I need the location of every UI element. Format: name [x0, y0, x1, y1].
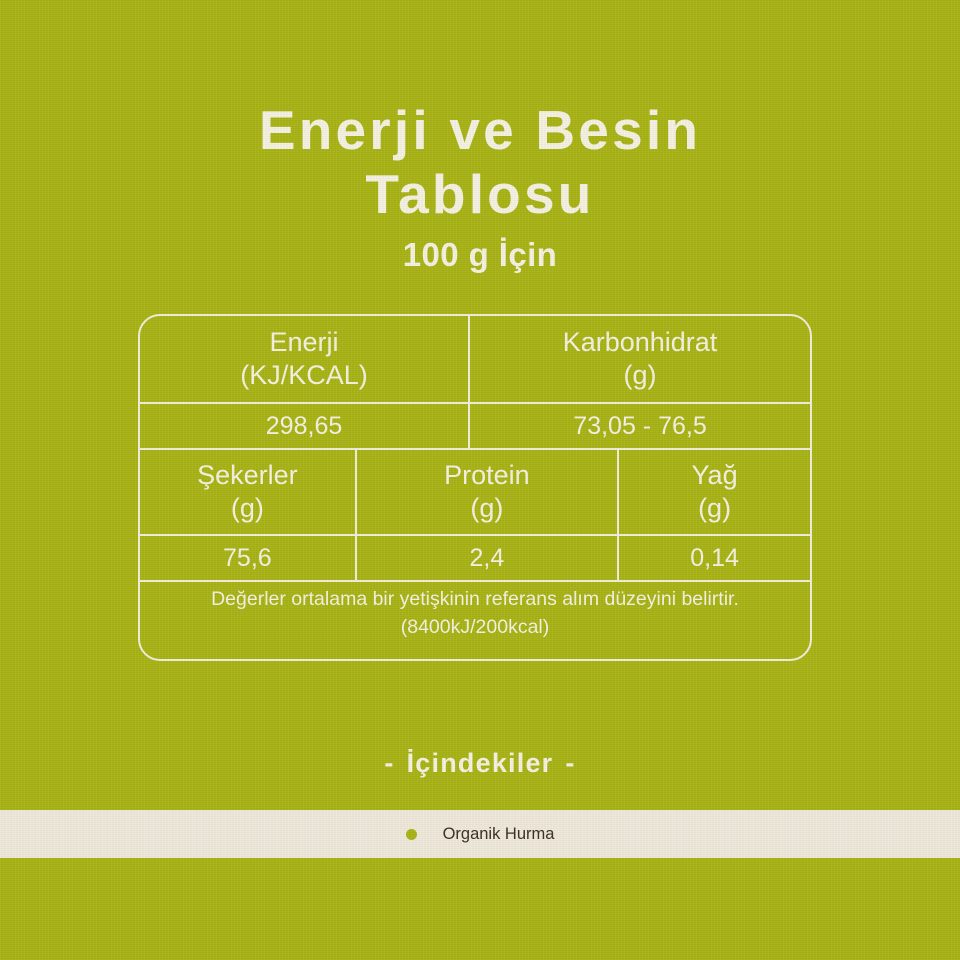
- ingredients-heading-label: İçindekiler: [407, 748, 554, 778]
- table-row: Şekerler (g) Protein (g) Yağ (g): [140, 448, 810, 534]
- table-value-cell-sekerler: 75,6: [140, 536, 355, 580]
- header-name: Enerji: [270, 326, 339, 359]
- table-value-cell-karbonhidrat: 73,05 - 76,5: [468, 404, 810, 448]
- title-block: Enerji ve Besin Tablosu 100 g İçin: [0, 98, 960, 274]
- page-title-line-1: Enerji ve Besin: [0, 98, 960, 162]
- bullet-dot-icon: [406, 829, 417, 840]
- table-footnote: Değerler ortalama bir yetişkinin referan…: [140, 580, 810, 645]
- header-name: Karbonhidrat: [563, 326, 718, 359]
- header-name: Protein: [444, 459, 530, 492]
- ingredient-label: Organik Hurma: [443, 825, 555, 844]
- table-header-cell-yag: Yağ (g): [617, 450, 810, 534]
- header-unit: (KJ/KCAL): [240, 359, 368, 392]
- footnote-line-1: Değerler ortalama bir yetişkinin referan…: [211, 586, 739, 614]
- header-name: Yağ: [692, 459, 738, 492]
- table-value-cell-yag: 0,14: [617, 536, 810, 580]
- ingredients-heading: -İçindekiler-: [0, 748, 960, 779]
- table-header-cell-sekerler: Şekerler (g): [140, 450, 355, 534]
- table-header-cell-karbonhidrat: Karbonhidrat (g): [468, 316, 810, 402]
- table-header-cell-enerji: Enerji (KJ/KCAL): [140, 316, 468, 402]
- page-subtitle: 100 g İçin: [0, 236, 960, 274]
- table-row: Enerji (KJ/KCAL) Karbonhidrat (g): [140, 316, 810, 402]
- nutrition-label-page: Enerji ve Besin Tablosu 100 g İçin Enerj…: [0, 0, 960, 960]
- table-value-cell-enerji: 298,65: [140, 404, 468, 448]
- list-item: Organik Hurma: [406, 825, 555, 844]
- header-unit: (g): [470, 492, 503, 525]
- dash-left: -: [372, 748, 406, 779]
- page-title-line-2: Tablosu: [0, 162, 960, 226]
- dash-right: -: [553, 748, 587, 779]
- table-value-cell-protein: 2,4: [355, 536, 617, 580]
- header-unit: (g): [231, 492, 264, 525]
- ingredients-band: Organik Hurma: [0, 810, 960, 858]
- table-row: 298,65 73,05 - 76,5: [140, 402, 810, 448]
- table-header-cell-protein: Protein (g): [355, 450, 617, 534]
- header-unit: (g): [624, 359, 657, 392]
- nutrition-table: Enerji (KJ/KCAL) Karbonhidrat (g) 298,65…: [138, 314, 812, 661]
- footnote-line-2: (8400kJ/200kcal): [401, 614, 550, 642]
- table-row: 75,6 2,4 0,14: [140, 534, 810, 580]
- header-unit: (g): [698, 492, 731, 525]
- header-name: Şekerler: [197, 459, 298, 492]
